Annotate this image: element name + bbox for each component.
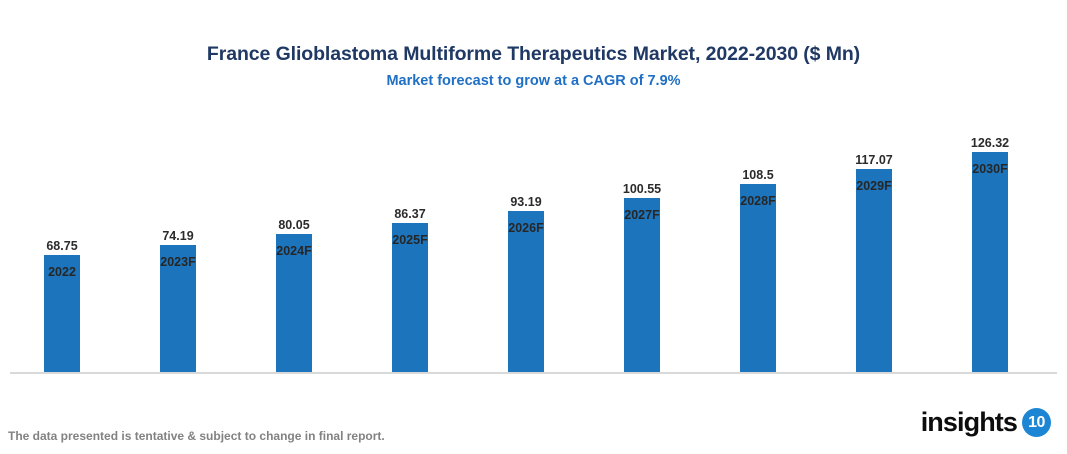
bar-value-label: 93.19: [473, 195, 579, 210]
logo-badge-icon: 10: [1022, 408, 1051, 437]
category-label: 2026F: [473, 221, 579, 236]
category-label: 2029F: [821, 179, 927, 194]
category-label: 2027F: [589, 208, 695, 223]
insights10-logo: insights 10: [921, 407, 1051, 437]
bar-value-label: 80.05: [241, 218, 347, 233]
bar-value-label: 126.32: [937, 136, 1043, 151]
bar-group: 86.37 2025F: [392, 223, 428, 372]
bar[interactable]: [624, 198, 660, 372]
bar-value-label: 74.19: [125, 229, 231, 244]
bar-group: 74.19 2023F: [160, 245, 196, 372]
category-label: 2024F: [241, 244, 347, 259]
category-label: 2030F: [937, 162, 1043, 177]
bar-value-label: 68.75: [9, 239, 115, 254]
bar[interactable]: [856, 169, 892, 372]
bar[interactable]: [740, 184, 776, 372]
bar-value-label: 86.37: [357, 207, 463, 222]
category-label: 2023F: [125, 255, 231, 270]
bar-group: 80.05 2024F: [276, 234, 312, 372]
x-axis-line: [10, 372, 1057, 374]
bar-value-label: 108.5: [705, 168, 811, 183]
category-label: 2028F: [705, 194, 811, 209]
bar-value-label: 117.07: [821, 153, 927, 168]
disclaimer-text: The data presented is tentative & subjec…: [8, 428, 385, 444]
bar-group: 93.19 2026F: [508, 211, 544, 372]
logo-wordmark: insights: [921, 407, 1017, 437]
bar-group: 108.5 2028F: [740, 184, 776, 372]
bar[interactable]: [972, 152, 1008, 372]
bar-group: 100.55 2027F: [624, 198, 660, 372]
chart-page: France Glioblastoma Multiforme Therapeut…: [0, 0, 1067, 454]
category-label: 2025F: [357, 233, 463, 248]
bar-value-label: 100.55: [589, 182, 695, 197]
bar-group: 126.32 2030F: [972, 152, 1008, 372]
category-label: 2022: [9, 265, 115, 280]
bar-group: 68.75 2022: [44, 255, 80, 372]
bar-group: 117.07 2029F: [856, 169, 892, 372]
bar-chart-plot: 68.75 2022 74.19 2023F 80.05 2024F 86.37…: [0, 0, 1067, 454]
